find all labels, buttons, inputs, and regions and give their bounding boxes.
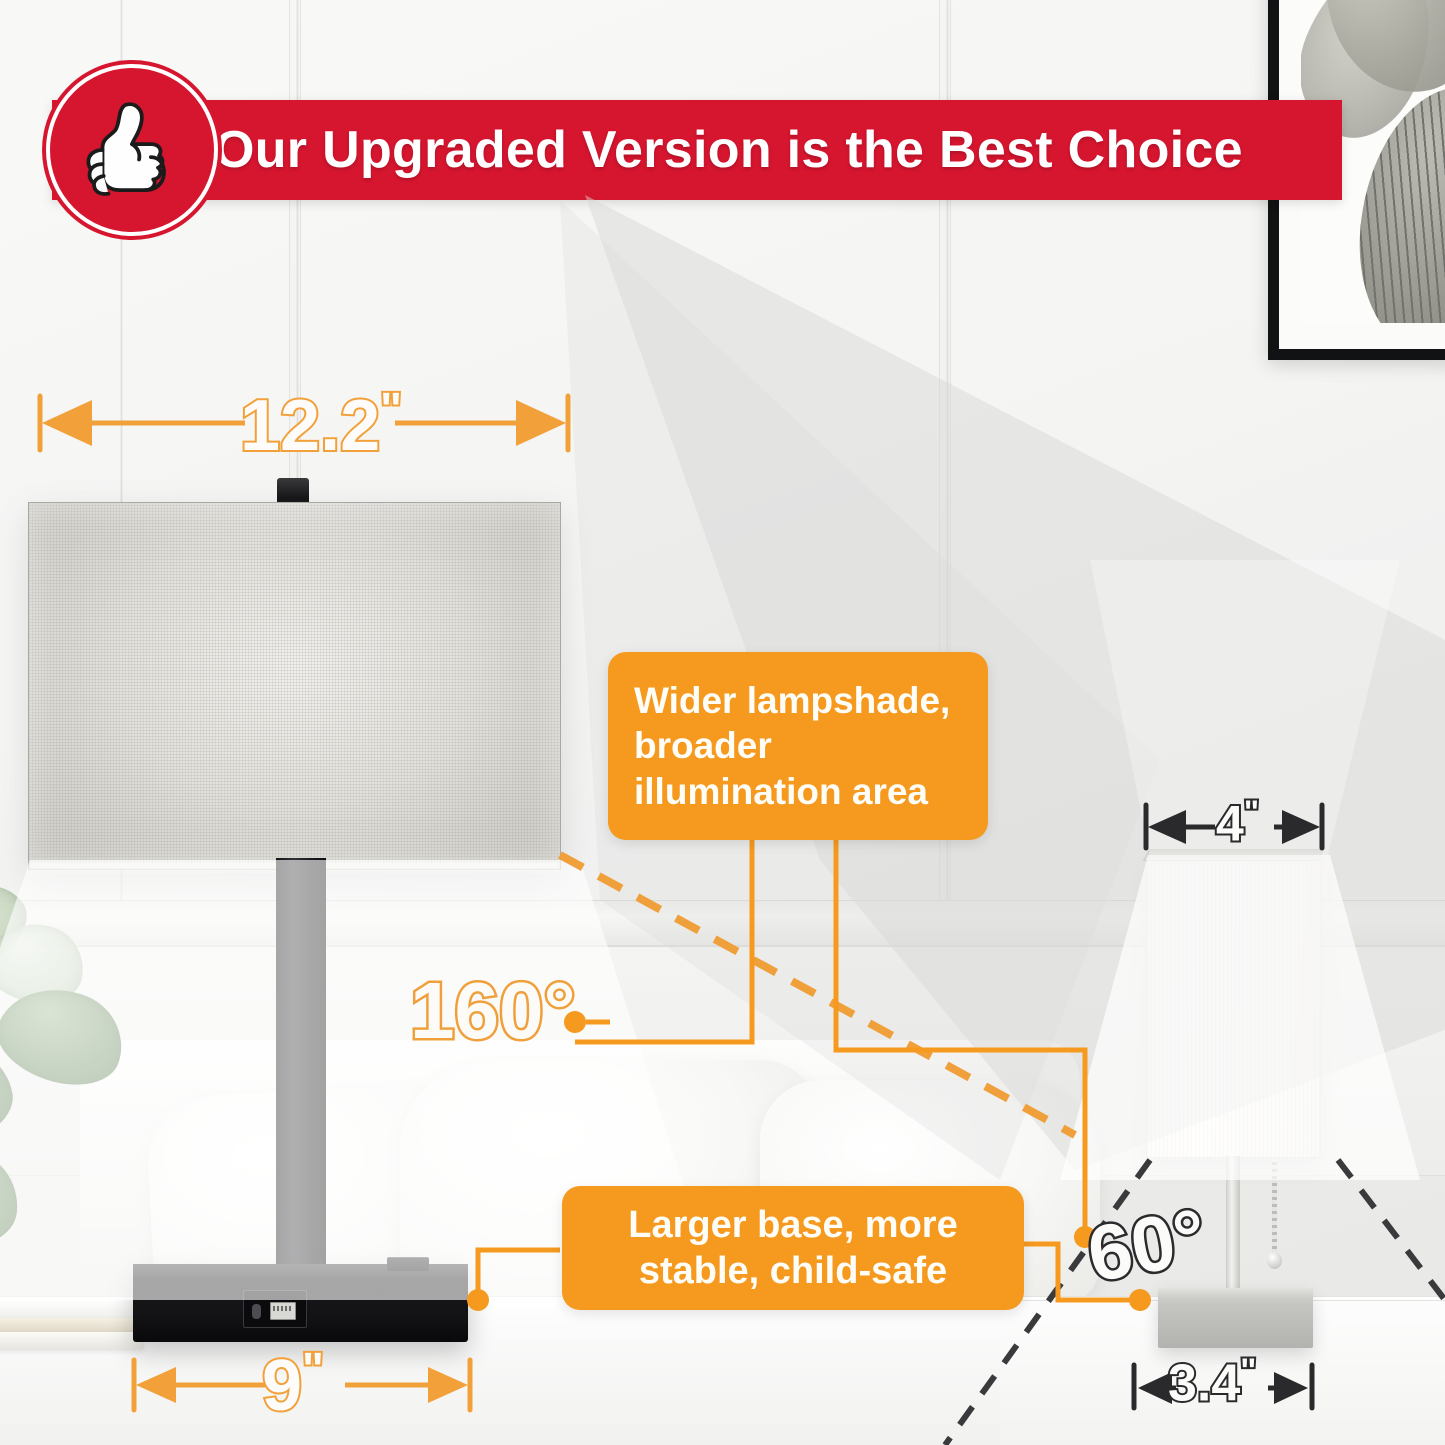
usb-a-port[interactable]	[270, 1302, 296, 1320]
power-switch[interactable]	[387, 1257, 429, 1271]
callout-base[interactable]: Larger base, more stable, child-safe	[562, 1186, 1024, 1310]
product-comparison-image: 12.2" 9" 4" 3.4" 160° 60° Wider lampshad…	[0, 0, 1445, 1445]
pull-chain-bead[interactable]	[1267, 1252, 1282, 1269]
callout-line-3: illumination area	[634, 769, 962, 814]
upgraded-lamp-pole	[276, 858, 326, 1264]
callout-line-1: Wider lampshade,	[634, 678, 962, 723]
callout-line-2: stable, child-safe	[586, 1248, 1000, 1294]
angle-label-160: 160°	[410, 965, 575, 1057]
thumbs-up-icon	[73, 91, 191, 209]
dim-label-12-2: 12.2"	[240, 382, 402, 467]
book-stack-bottom	[0, 1332, 144, 1350]
usb-c-port[interactable]	[252, 1304, 261, 1319]
old-lamp-shade	[1146, 858, 1321, 1158]
dim-label-3-4: 3.4"	[1168, 1352, 1256, 1413]
callout-lampshade[interactable]: Wider lampshade, broader illumination ar…	[608, 652, 988, 840]
callout-lampshade-text: Wider lampshade, broader illumination ar…	[634, 678, 962, 813]
dim-label-4: 4"	[1216, 794, 1259, 853]
callout-line-2: broader	[634, 723, 962, 768]
upgraded-table-lamp	[0, 470, 600, 1330]
dim-label-9: 9"	[262, 1342, 324, 1427]
upgraded-lamp-base	[133, 1264, 468, 1342]
upgraded-lamp-shade	[28, 502, 561, 870]
promo-banner: Our Upgraded Version is the Best Choice	[52, 100, 1342, 200]
old-lamp-base	[1158, 1288, 1313, 1348]
promo-banner-text: Our Upgraded Version is the Best Choice	[214, 120, 1243, 180]
port-plate	[243, 1290, 307, 1328]
callout-base-text: Larger base, more stable, child-safe	[586, 1202, 1000, 1295]
old-lamp-pole	[1226, 1156, 1240, 1296]
pull-chain-switch[interactable]	[1272, 1158, 1277, 1258]
old-lamp-base-top	[1158, 1288, 1313, 1299]
thumbs-up-badge	[46, 64, 218, 236]
callout-line-1: Larger base, more	[586, 1202, 1000, 1248]
